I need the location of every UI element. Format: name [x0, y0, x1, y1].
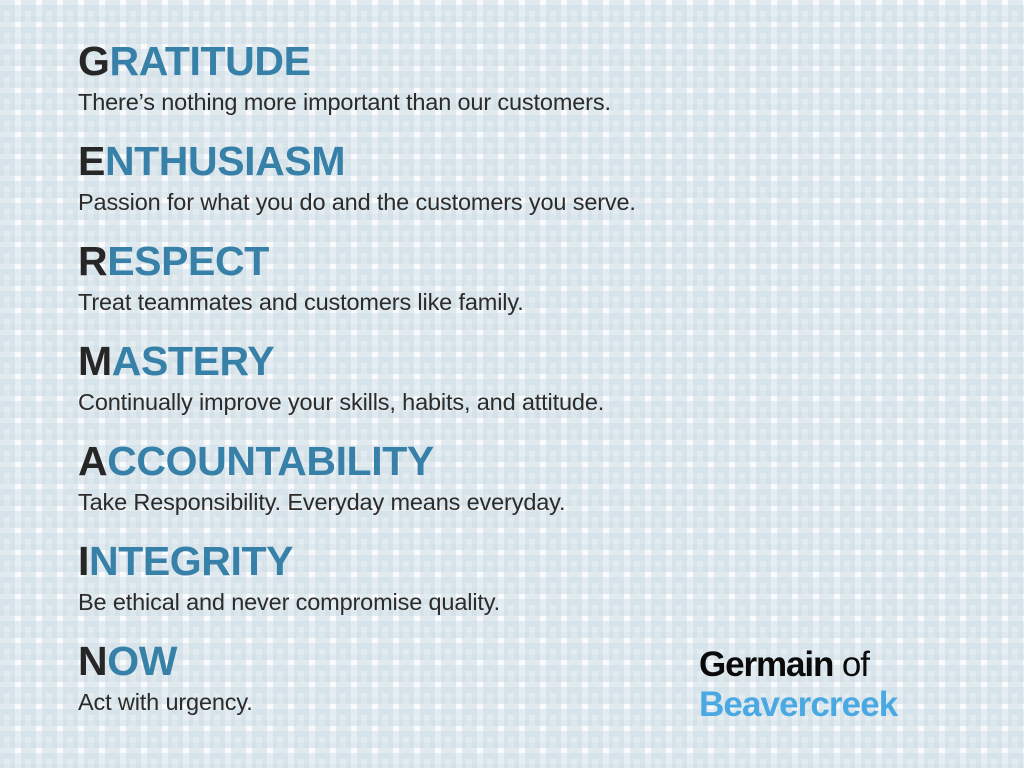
value-description-enthusiasm: Passion for what you do and the customer… — [78, 186, 978, 218]
value-block-gratitude: GRATITUDE There’s nothing more important… — [78, 38, 978, 138]
value-rest-accountability: CCOUNTABILITY — [107, 438, 434, 484]
value-block-respect: RESPECT Treat teammates and customers li… — [78, 238, 978, 338]
value-word-mastery: MASTERY — [78, 338, 978, 384]
value-word-enthusiasm: ENTHUSIASM — [78, 138, 978, 184]
value-initial-r: R — [78, 238, 107, 284]
brand-logo: Germain of Beavercreek — [699, 645, 897, 725]
value-description-respect: Treat teammates and customers like famil… — [78, 286, 978, 318]
value-rest-now: OW — [107, 638, 177, 684]
value-block-integrity: INTEGRITY Be ethical and never compromis… — [78, 538, 978, 638]
value-initial-a: A — [78, 438, 107, 484]
brand-location: Beavercreek — [699, 685, 897, 725]
value-rest-integrity: NTEGRITY — [89, 538, 293, 584]
value-block-enthusiasm: ENTHUSIASM Passion for what you do and t… — [78, 138, 978, 238]
value-rest-gratitude: RATITUDE — [110, 38, 311, 84]
value-description-mastery: Continually improve your skills, habits,… — [78, 386, 978, 418]
value-initial-n: N — [78, 638, 107, 684]
brand-dealer-name: Germain — [699, 645, 833, 684]
value-word-accountability: ACCOUNTABILITY — [78, 438, 978, 484]
value-rest-respect: ESPECT — [107, 238, 269, 284]
value-description-gratitude: There’s nothing more important than our … — [78, 86, 978, 118]
brand-connector: of — [833, 645, 869, 684]
value-description-accountability: Take Responsibility. Everyday means ever… — [78, 486, 978, 518]
value-initial-g: G — [78, 38, 110, 84]
value-initial-i: I — [78, 538, 89, 584]
value-word-respect: RESPECT — [78, 238, 978, 284]
value-word-integrity: INTEGRITY — [78, 538, 978, 584]
value-description-integrity: Be ethical and never compromise quality. — [78, 586, 978, 618]
brand-name-line: Germain of — [699, 645, 897, 685]
value-initial-m: M — [78, 338, 112, 384]
value-rest-mastery: ASTERY — [112, 338, 274, 384]
value-block-accountability: ACCOUNTABILITY Take Responsibility. Ever… — [78, 438, 978, 538]
core-values-list: GRATITUDE There’s nothing more important… — [78, 38, 978, 738]
value-rest-enthusiasm: NTHUSIASM — [105, 138, 345, 184]
value-block-mastery: MASTERY Continually improve your skills,… — [78, 338, 978, 438]
value-initial-e: E — [78, 138, 105, 184]
value-word-gratitude: GRATITUDE — [78, 38, 978, 84]
